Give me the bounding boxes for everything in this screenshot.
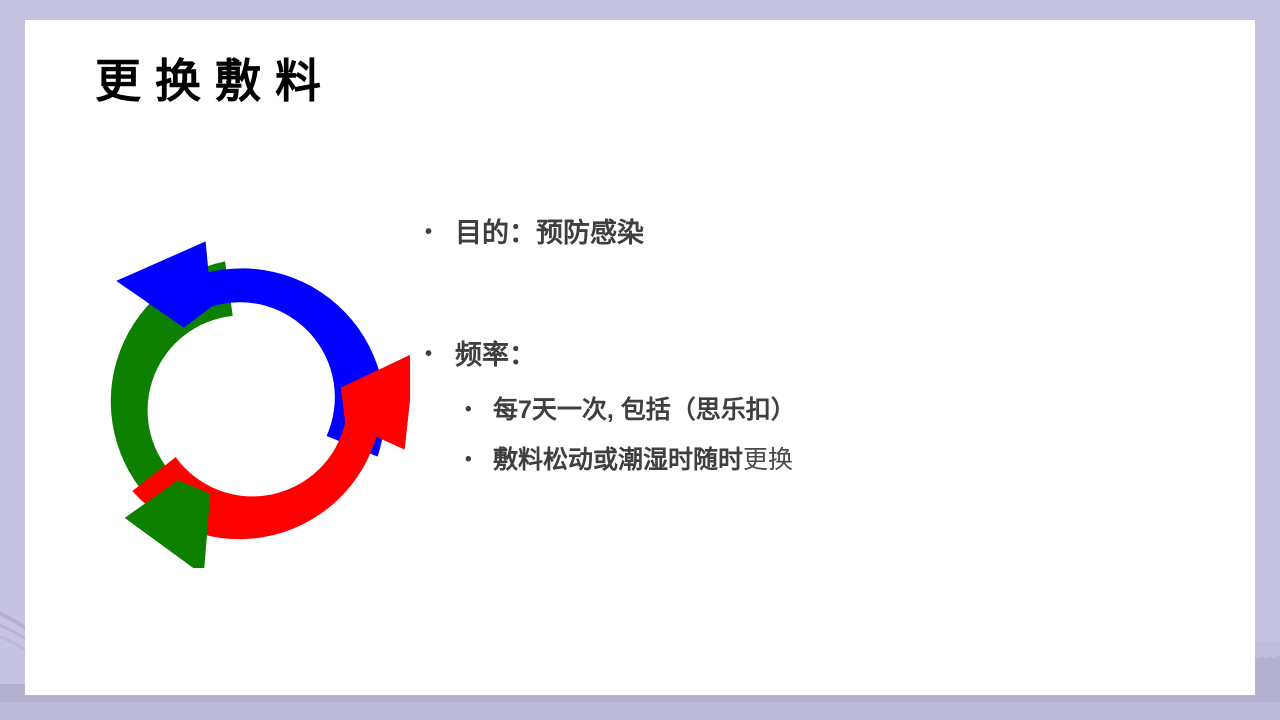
bullet-marker-icon: • (425, 215, 455, 249)
cycle-center-hole (173, 331, 317, 475)
bullet-marker-icon: • (425, 337, 455, 371)
sub-bullet-condition-text: 敷料松动或潮湿时随时更换 (493, 444, 1215, 478)
sub-bullet-condition-bold: 敷料松动或潮湿时随时 (493, 446, 743, 474)
bullet-spacer (425, 251, 1215, 337)
sub-bullet-marker-icon: • (465, 444, 493, 476)
sub-bullet-schedule-text: 每7天一次, 包括（思乐扣） (493, 394, 1215, 428)
sub-bullet-schedule: • 每7天一次, 包括（思乐扣） (465, 394, 1215, 428)
page-title: 更换敷料 (95, 53, 335, 111)
body-content: • 目的：预防感染 • 频率： • 每7天一次, 包括（思乐扣） • 敷料松动或… (425, 215, 1215, 493)
sub-bullet-marker-icon: • (465, 394, 493, 426)
slide-canvas: 更换敷料 (25, 20, 1255, 695)
bullet-purpose: • 目的：预防感染 (425, 215, 1215, 251)
bullet-purpose-text: 目的：预防感染 (455, 215, 1215, 251)
background-band-lowest (0, 702, 1280, 720)
sub-bullet-spacer (425, 374, 1215, 394)
sub-bullet-condition: • 敷料松动或潮湿时随时更换 (465, 444, 1215, 478)
bullet-frequency: • 频率： (425, 337, 1215, 373)
bullet-frequency-text: 频率： (455, 337, 1215, 373)
cycle-diagram (80, 238, 410, 568)
sub-bullet-condition-light: 更换 (743, 446, 793, 474)
